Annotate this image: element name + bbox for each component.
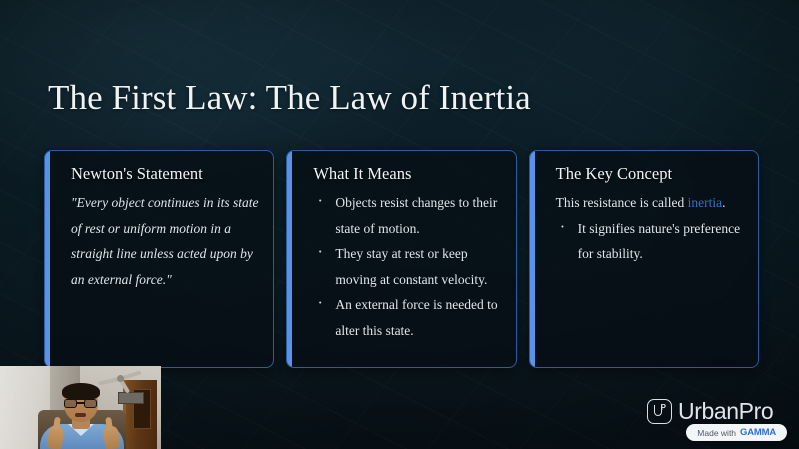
- presenter-glasses-left: [64, 399, 77, 408]
- list-item: They stay at rest or keep moving at cons…: [313, 241, 501, 292]
- card-what-it-means: What It Means Objects resist changes to …: [286, 150, 516, 368]
- urbanpro-mark-icon: P: [647, 399, 672, 424]
- keyword-inertia: inertia: [688, 195, 722, 210]
- badge-gamma-brand: GAMMA: [740, 427, 776, 438]
- urbanpro-logo[interactable]: P UrbanPro: [647, 399, 773, 424]
- lead-prefix: This resistance is called: [556, 195, 688, 210]
- card-newtons-statement: Newton's Statement "Every object continu…: [44, 150, 274, 368]
- presenter-video-feed[interactable]: [0, 366, 161, 449]
- presenter-mouth: [75, 413, 86, 417]
- list-item: It signifies nature's preference for sta…: [556, 216, 744, 267]
- logo-p-letter: P: [661, 404, 666, 412]
- card-heading: What It Means: [313, 163, 501, 185]
- card-the-key-concept: The Key Concept This resistance is calle…: [529, 150, 759, 368]
- presenter-glasses-right: [84, 399, 97, 408]
- video-bg-wall-frame: [118, 392, 144, 404]
- presenter-hair: [62, 383, 100, 400]
- urbanpro-wordmark: UrbanPro: [678, 399, 773, 424]
- card-accent-bar: [45, 151, 50, 367]
- card-lead-text: This resistance is called inertia.: [556, 190, 744, 216]
- card-heading: Newton's Statement: [71, 163, 259, 185]
- badge-made-label: Made with: [697, 428, 736, 438]
- list-item: Objects resist changes to their state of…: [313, 190, 501, 241]
- lead-suffix: .: [722, 195, 725, 210]
- presenter-glasses-bridge: [77, 402, 84, 404]
- ceiling-fan-icon: [98, 369, 144, 386]
- list-item: An external force is needed to alter thi…: [313, 292, 501, 343]
- made-with-gamma-badge[interactable]: Made with GAMMA: [686, 424, 787, 441]
- card-quote-text: "Every object continues in its state of …: [71, 190, 259, 292]
- presenter-hand-left: [46, 425, 64, 449]
- card-bullet-list: Objects resist changes to their state of…: [313, 190, 501, 343]
- slide-stage: The First Law: The Law of Inertia Newton…: [0, 0, 799, 449]
- page-title: The First Law: The Law of Inertia: [48, 76, 531, 120]
- watermark: P UrbanPro Made with GAMMA: [647, 399, 787, 441]
- card-accent-bar: [287, 151, 292, 367]
- card-row: Newton's Statement "Every object continu…: [44, 150, 759, 368]
- card-bullet-list: It signifies nature's preference for sta…: [556, 216, 744, 267]
- card-accent-bar: [530, 151, 535, 367]
- card-heading: The Key Concept: [556, 163, 744, 185]
